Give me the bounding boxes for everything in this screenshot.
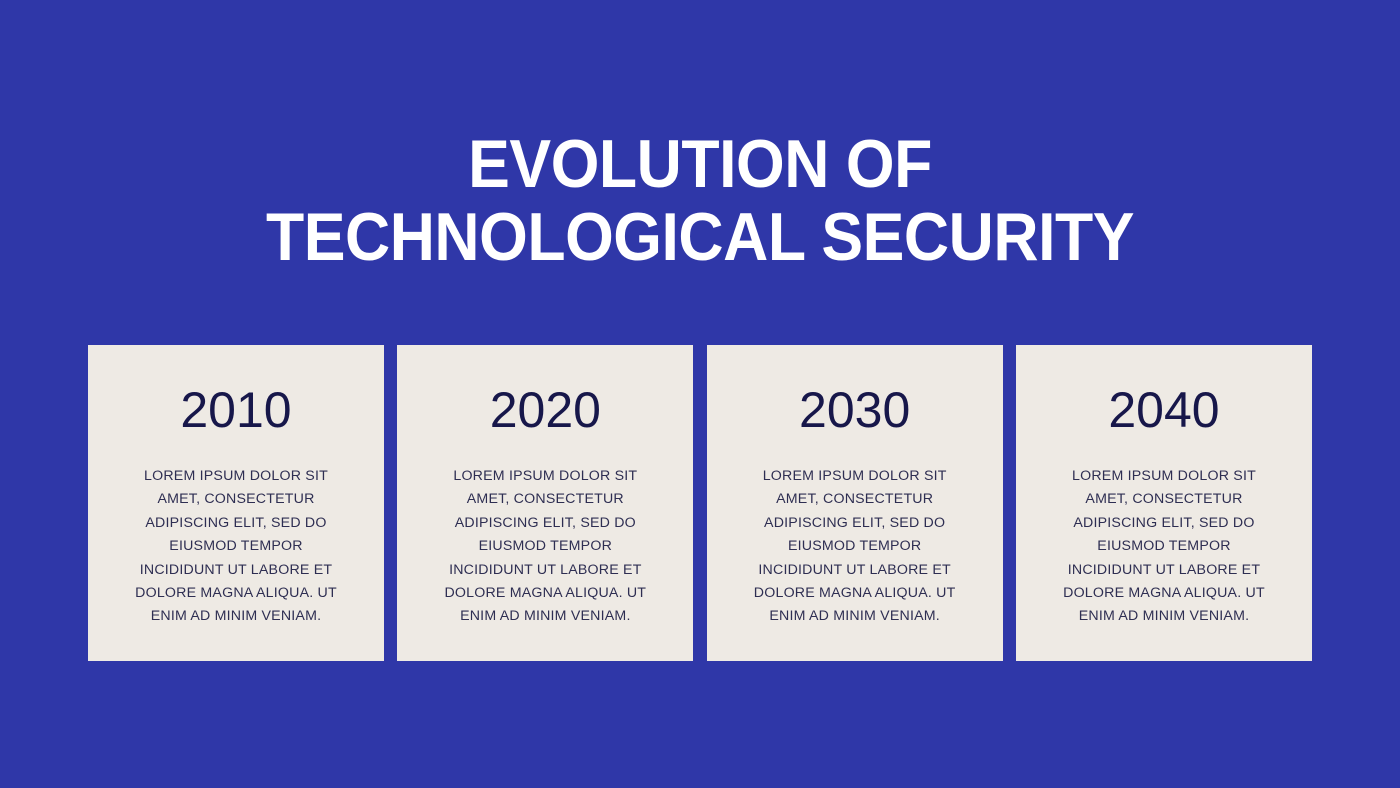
card-year-label: 2020 <box>490 385 601 435</box>
card-body-text: Lorem ipsum dolor sit amet, consectetur … <box>1056 465 1271 629</box>
title-line-2: TECHNOLOGICAL SECURITY <box>56 205 1344 270</box>
slide-title: EVOLUTION OF TECHNOLOGICAL SECURITY <box>0 132 1400 269</box>
timeline-card-2010[interactable]: 2010 Lorem ipsum dolor sit amet, consect… <box>88 345 384 661</box>
card-year-label: 2010 <box>180 385 291 435</box>
timeline-card-2030[interactable]: 2030 Lorem ipsum dolor sit amet, consect… <box>707 345 1003 661</box>
card-body-text: Lorem ipsum dolor sit amet, consectetur … <box>129 465 344 629</box>
timeline-card-2040[interactable]: 2040 Lorem ipsum dolor sit amet, consect… <box>1016 345 1312 661</box>
card-body-text: Lorem ipsum dolor sit amet, consectetur … <box>747 465 962 629</box>
card-year-label: 2040 <box>1108 385 1219 435</box>
card-year-label: 2030 <box>799 385 910 435</box>
slide-canvas: EVOLUTION OF TECHNOLOGICAL SECURITY 2010… <box>0 0 1400 788</box>
timeline-card-2020[interactable]: 2020 Lorem ipsum dolor sit amet, consect… <box>397 345 693 661</box>
timeline-cards-row: 2010 Lorem ipsum dolor sit amet, consect… <box>88 345 1312 661</box>
title-line-1: EVOLUTION OF <box>56 132 1344 197</box>
card-body-text: Lorem ipsum dolor sit amet, consectetur … <box>438 465 653 629</box>
